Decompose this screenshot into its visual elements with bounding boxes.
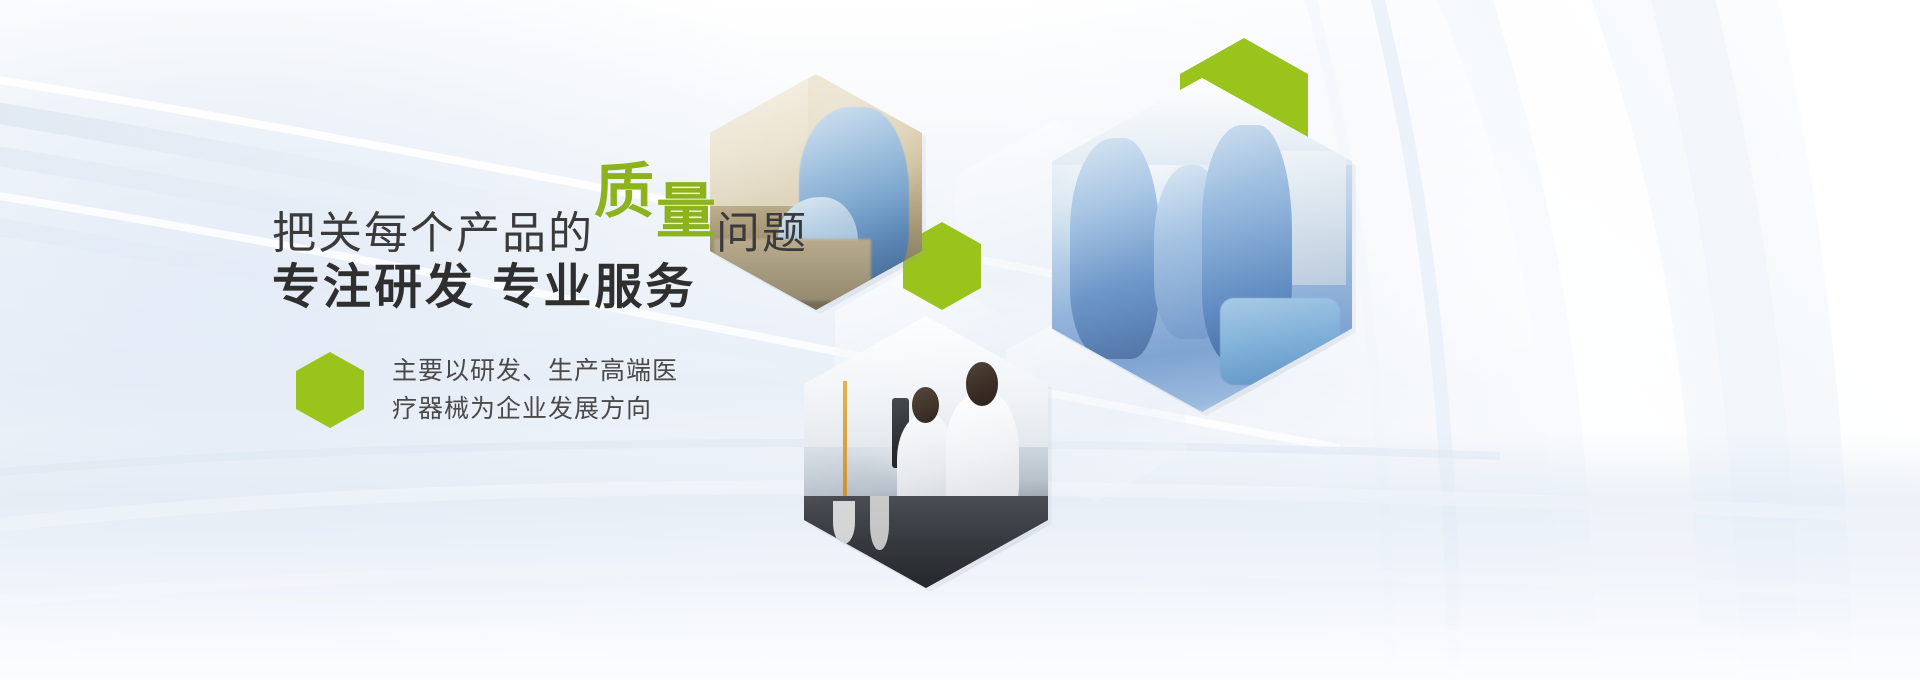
headline-primary: 把关每个产品的 质量 问题 [272,176,912,236]
banner-subtitle-line-1: 主要以研发、生产高端医 [392,352,678,390]
headline-secondary: 专注研发 专业服务 [272,262,912,315]
photo-3-flask-b [870,496,890,550]
hero-banner: 把关每个产品的 质量 问题 专注研发 专业服务 主要以研发、生产高端医 疗器械为… [0,0,1920,680]
banner-subtitle-block: 主要以研发、生产高端医 疗器械为企业发展方向 [296,352,678,428]
hexagon-cluster [0,0,1920,680]
headline-accent-word: 质量 [594,176,716,236]
headline-accent-char-1: 质 [594,162,654,222]
banner-copy: 把关每个产品的 质量 问题 专注研发 专业服务 [272,176,912,315]
headline-accent-char-2: 量 [656,182,716,242]
photo-2-technician-a [1070,138,1160,358]
hexagon-bullet-icon [296,352,364,428]
banner-subtitle: 主要以研发、生产高端医 疗器械为企业发展方向 [392,352,678,428]
photo-3-researcher-b-head [912,387,939,424]
banner-subtitle-line-2: 疗器械为企业发展方向 [392,390,678,428]
headline-primary-lead: 把关每个产品的 [272,212,594,256]
photo-3-researcher-a-head [966,362,998,406]
headline-primary-tail: 问题 [716,212,808,256]
